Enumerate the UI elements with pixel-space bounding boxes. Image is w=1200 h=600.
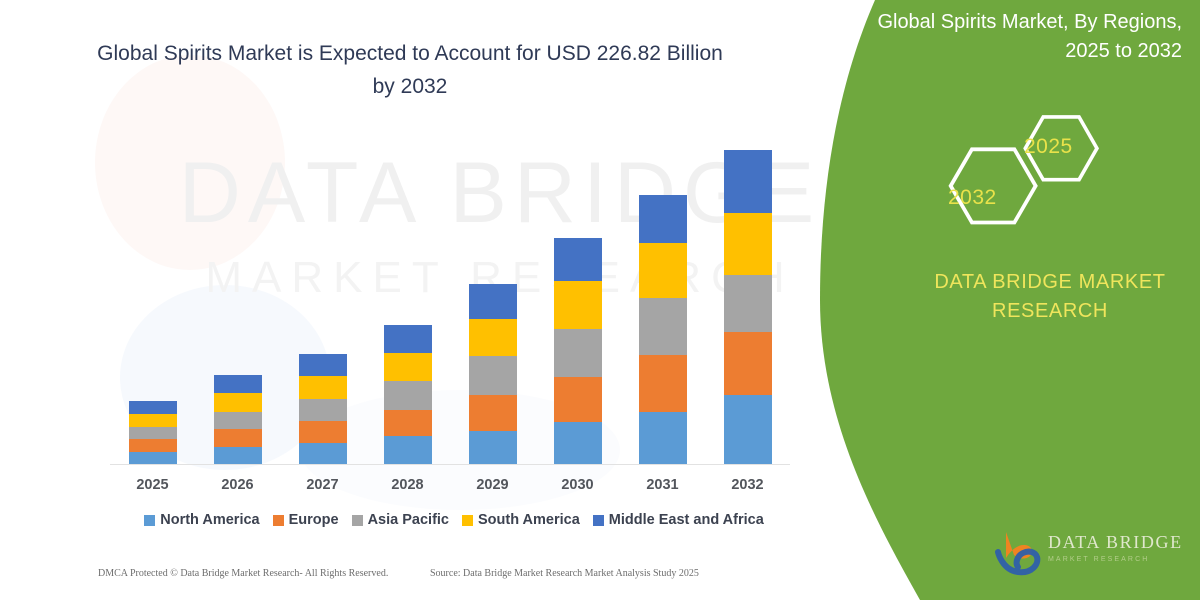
bar-column-2029 <box>469 284 517 465</box>
bar-segment <box>639 298 687 354</box>
bar-segment <box>129 414 177 427</box>
bar-column-2032 <box>724 150 772 465</box>
bar-segment <box>724 332 772 395</box>
bar-segment <box>554 329 602 377</box>
footer-copyright: DMCA Protected © Data Bridge Market Rese… <box>98 568 388 579</box>
bar-segment <box>639 412 687 465</box>
bar-segment <box>554 238 602 281</box>
data-bridge-logo: DATA BRIDGE MARKET RESEARCH <box>992 528 1192 580</box>
bar-segment <box>129 452 177 465</box>
bar-segment <box>384 353 432 382</box>
bar-column-2028 <box>384 325 432 465</box>
bar-column-2031 <box>639 195 687 465</box>
bar-segment <box>469 431 517 465</box>
bar-segment <box>299 443 347 466</box>
infographic-page: DATA BRIDGE MARKET RESEARCH Global Spiri… <box>0 0 1200 600</box>
bar-segment <box>469 284 517 319</box>
legend-item-south-america[interactable]: South America <box>462 512 580 528</box>
x-axis-line <box>110 464 790 465</box>
panel-brand-line2: RESEARCH <box>900 297 1200 326</box>
x-axis-label-2025: 2025 <box>110 477 196 493</box>
bar-segment <box>724 395 772 465</box>
x-axis-label-2028: 2028 <box>365 477 451 493</box>
bar-segment <box>639 243 687 298</box>
bar-column-2025 <box>129 401 177 465</box>
bar-segment <box>469 356 517 396</box>
x-axis-label-2027: 2027 <box>280 477 366 493</box>
legend-item-north-america[interactable]: North America <box>144 512 259 528</box>
legend-swatch-icon <box>462 515 473 526</box>
x-axis-labels: 20252026202720282029203020312032 <box>110 474 790 498</box>
bar-segment <box>384 436 432 465</box>
bar-segment <box>299 376 347 399</box>
bar-segment <box>554 281 602 329</box>
legend-label: Europe <box>289 512 339 528</box>
bar-segment <box>214 429 262 446</box>
x-axis-label-2030: 2030 <box>535 477 621 493</box>
bar-segment <box>129 439 177 451</box>
footer: DMCA Protected © Data Bridge Market Rese… <box>0 566 880 592</box>
bar-column-2026 <box>214 375 262 465</box>
legend-swatch-icon <box>593 515 604 526</box>
legend-label: North America <box>160 512 259 528</box>
bar-segment <box>129 401 177 414</box>
chart-plot-area <box>110 140 790 465</box>
legend-swatch-icon <box>352 515 363 526</box>
bar-column-2027 <box>299 354 347 465</box>
logo-name: DATA BRIDGE <box>1048 532 1193 553</box>
legend-label: Asia Pacific <box>368 512 449 528</box>
legend-label: South America <box>478 512 580 528</box>
bar-segment <box>384 410 432 437</box>
bar-segment <box>384 381 432 410</box>
legend-swatch-icon <box>273 515 284 526</box>
legend-label: Middle East and Africa <box>609 512 764 528</box>
bar-segment <box>639 355 687 412</box>
hexagon-label-right: 2025 <box>1024 135 1073 159</box>
bar-segment <box>214 375 262 393</box>
x-axis-label-2031: 2031 <box>620 477 706 493</box>
logo-subtitle: MARKET RESEARCH <box>1048 556 1193 563</box>
bar-segment <box>299 399 347 422</box>
bar-segment <box>724 150 772 213</box>
data-bridge-logo-text: DATA BRIDGE MARKET RESEARCH <box>1048 532 1193 563</box>
bar-segment <box>129 427 177 439</box>
hexagon-badges: 2032 2025 <box>920 108 1120 233</box>
x-axis-label-2026: 2026 <box>195 477 281 493</box>
bar-column-2030 <box>554 238 602 465</box>
footer-source: Source: Data Bridge Market Research Mark… <box>430 568 699 579</box>
legend-item-asia-pacific[interactable]: Asia Pacific <box>352 512 449 528</box>
panel-brand-name: DATA BRIDGE MARKET RESEARCH <box>900 268 1200 326</box>
panel-brand-line1: DATA BRIDGE MARKET <box>900 268 1200 297</box>
legend-item-middle-east-and-africa[interactable]: Middle East and Africa <box>593 512 764 528</box>
bar-segment <box>639 195 687 243</box>
panel-title: Global Spirits Market, By Regions, 2025 … <box>842 8 1182 66</box>
data-bridge-logo-icon <box>992 528 1044 578</box>
bar-segment <box>469 319 517 356</box>
chart-title: Global Spirits Market is Expected to Acc… <box>90 38 730 103</box>
bar-segment <box>724 213 772 274</box>
bar-segment <box>214 412 262 429</box>
bar-segment <box>554 422 602 465</box>
bar-segment <box>299 354 347 377</box>
bar-segment <box>554 377 602 422</box>
bar-segment <box>299 421 347 442</box>
hexagon-label-left: 2032 <box>948 186 997 210</box>
x-axis-label-2032: 2032 <box>705 477 791 493</box>
legend-swatch-icon <box>144 515 155 526</box>
chart-legend: North AmericaEuropeAsia PacificSouth Ame… <box>104 512 804 528</box>
bar-segment <box>384 325 432 353</box>
x-axis-label-2029: 2029 <box>450 477 536 493</box>
bar-segment <box>214 447 262 465</box>
bar-segment <box>469 395 517 431</box>
bar-segment <box>214 393 262 411</box>
bar-segment <box>724 275 772 332</box>
legend-item-europe[interactable]: Europe <box>273 512 339 528</box>
